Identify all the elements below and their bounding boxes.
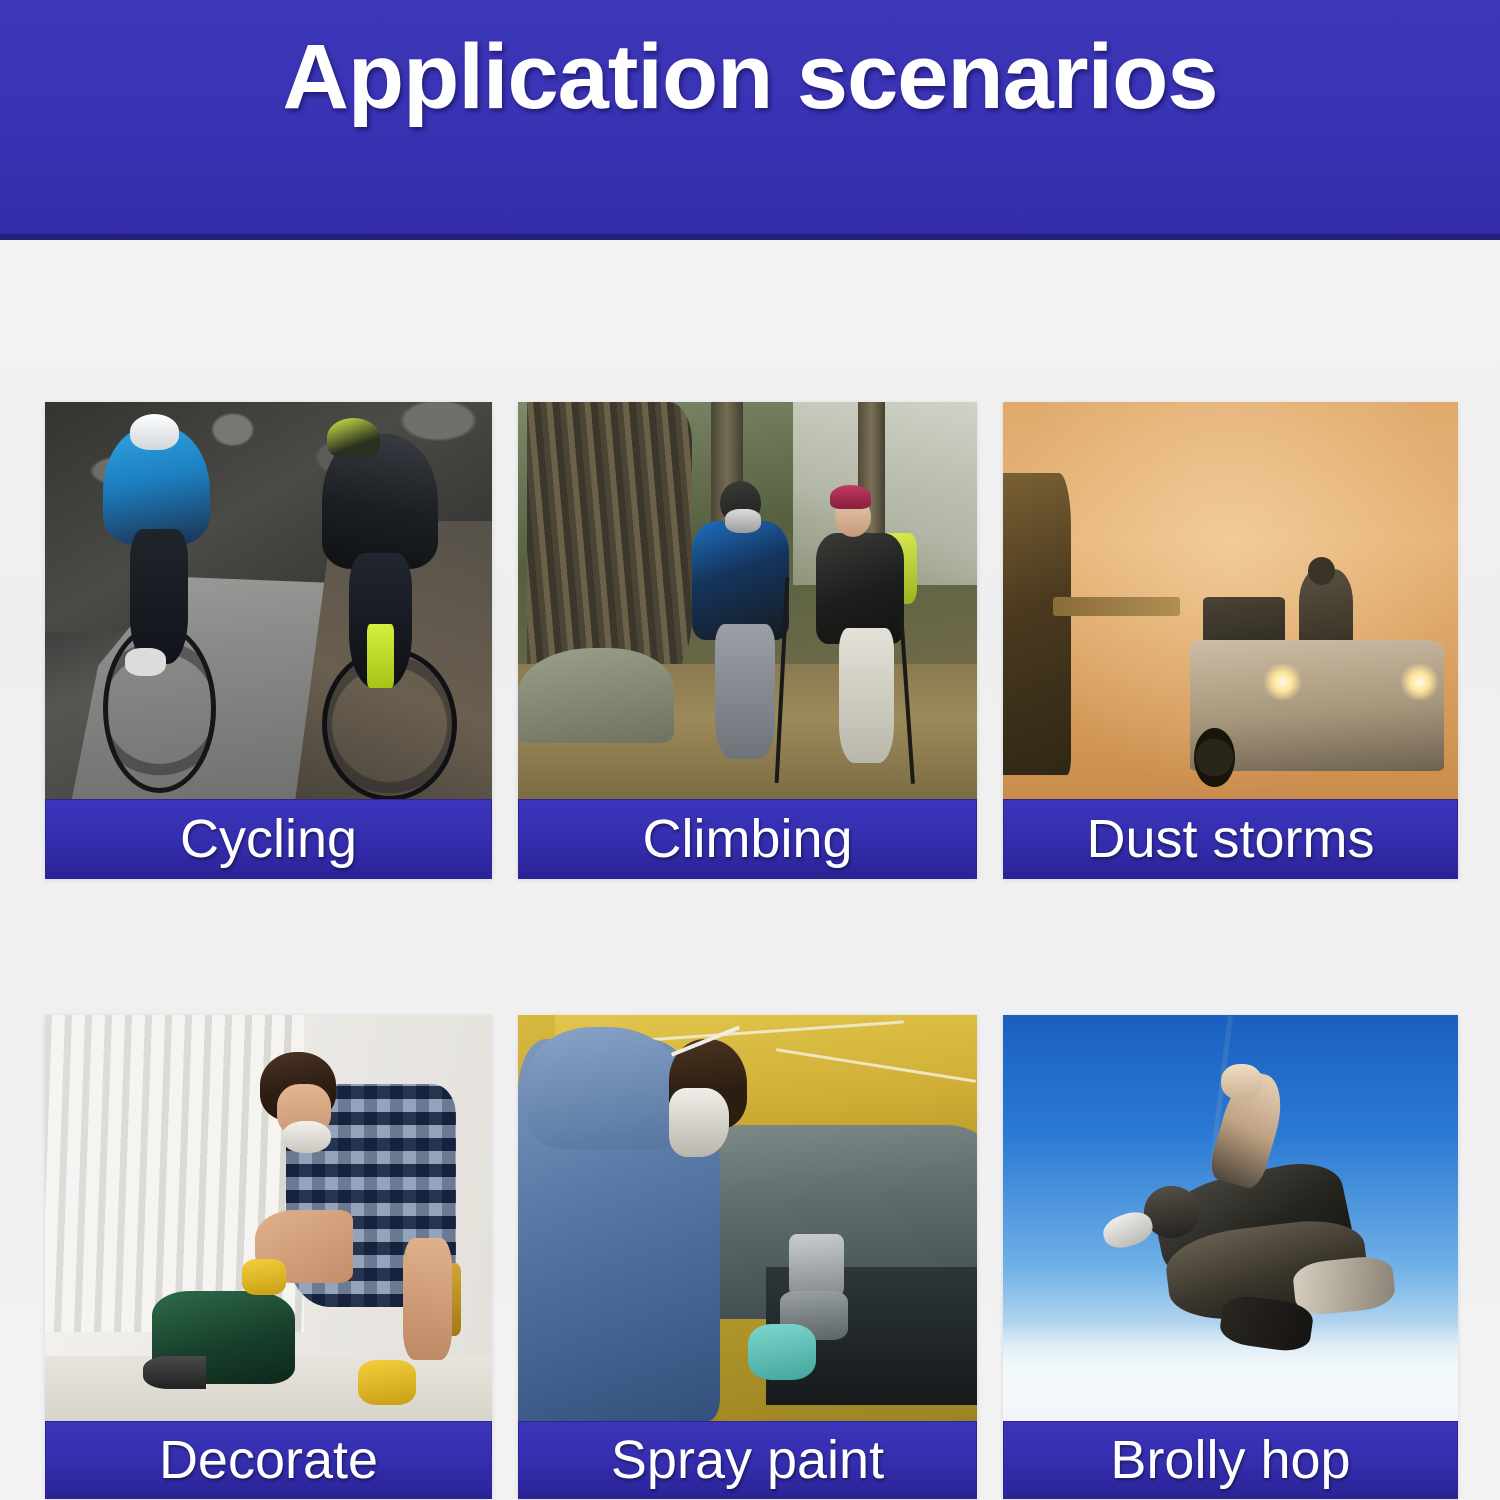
yellow-glove-left [242, 1259, 287, 1296]
hiker-left-mask [725, 509, 762, 533]
cyclist-left-shoe [125, 648, 165, 676]
headlight-left [1262, 664, 1303, 700]
nitrile-glove [748, 1324, 817, 1381]
caption-brolly-hop: Brolly hop [1003, 1421, 1458, 1499]
caption-climbing: Climbing [518, 799, 977, 879]
scenario-card-cycling[interactable]: Cycling [45, 402, 492, 879]
crane-arm [1053, 597, 1180, 617]
mossy-boulder [518, 648, 674, 743]
caption-spray-paint: Spray paint [518, 1421, 977, 1499]
scenario-card-dust-storms[interactable]: Dust storms [1003, 402, 1458, 879]
cyclist-right-helmet [327, 418, 381, 458]
headlight-right [1399, 664, 1440, 700]
sander-blade [143, 1356, 206, 1388]
painter-hood [527, 1027, 683, 1149]
caption-decorate: Decorate [45, 1421, 492, 1499]
decorate-photo [45, 1015, 492, 1421]
scenario-card-brolly-hop[interactable]: Brolly hop [1003, 1015, 1458, 1499]
cycling-photo [45, 402, 492, 799]
scenario-card-decorate[interactable]: Decorate [45, 1015, 492, 1499]
scenario-grid: Cycling [45, 402, 1458, 1499]
worker-arm-right [403, 1238, 452, 1360]
spray-gun-cup [789, 1234, 844, 1299]
spray-paint-photo [518, 1015, 977, 1421]
respirator-mask [669, 1088, 729, 1157]
cyclist-right-bottle [367, 624, 394, 688]
dust-mask [282, 1121, 331, 1153]
header-banner: Application scenarios [0, 0, 1500, 240]
raised-hand [1221, 1064, 1262, 1101]
cyclist-left-helmet [130, 414, 179, 450]
cyclist-left-legs [130, 529, 188, 664]
yellow-glove-right [358, 1360, 416, 1405]
scenario-card-spray-paint[interactable]: Spray paint [518, 1015, 977, 1499]
truck-wheel [1194, 728, 1235, 788]
hiker-left-legs [715, 624, 775, 759]
hiker-left-jacket [692, 521, 788, 640]
page-title: Application scenarios [282, 28, 1217, 127]
caption-cycling: Cycling [45, 799, 492, 879]
tree-trunk-large [527, 402, 692, 688]
left-machinery [1003, 473, 1071, 775]
hiker-right-bandana [830, 485, 871, 509]
hiker-right-legs [839, 628, 894, 763]
climbing-photo [518, 402, 977, 799]
caption-dust-storms: Dust storms [1003, 799, 1458, 879]
application-scenarios-page: Application scenarios Cycling [0, 0, 1500, 1500]
dust-storms-photo [1003, 402, 1458, 799]
worker-head [1308, 557, 1335, 585]
scenario-card-climbing[interactable]: Climbing [518, 402, 977, 879]
brolly-hop-photo [1003, 1015, 1458, 1421]
